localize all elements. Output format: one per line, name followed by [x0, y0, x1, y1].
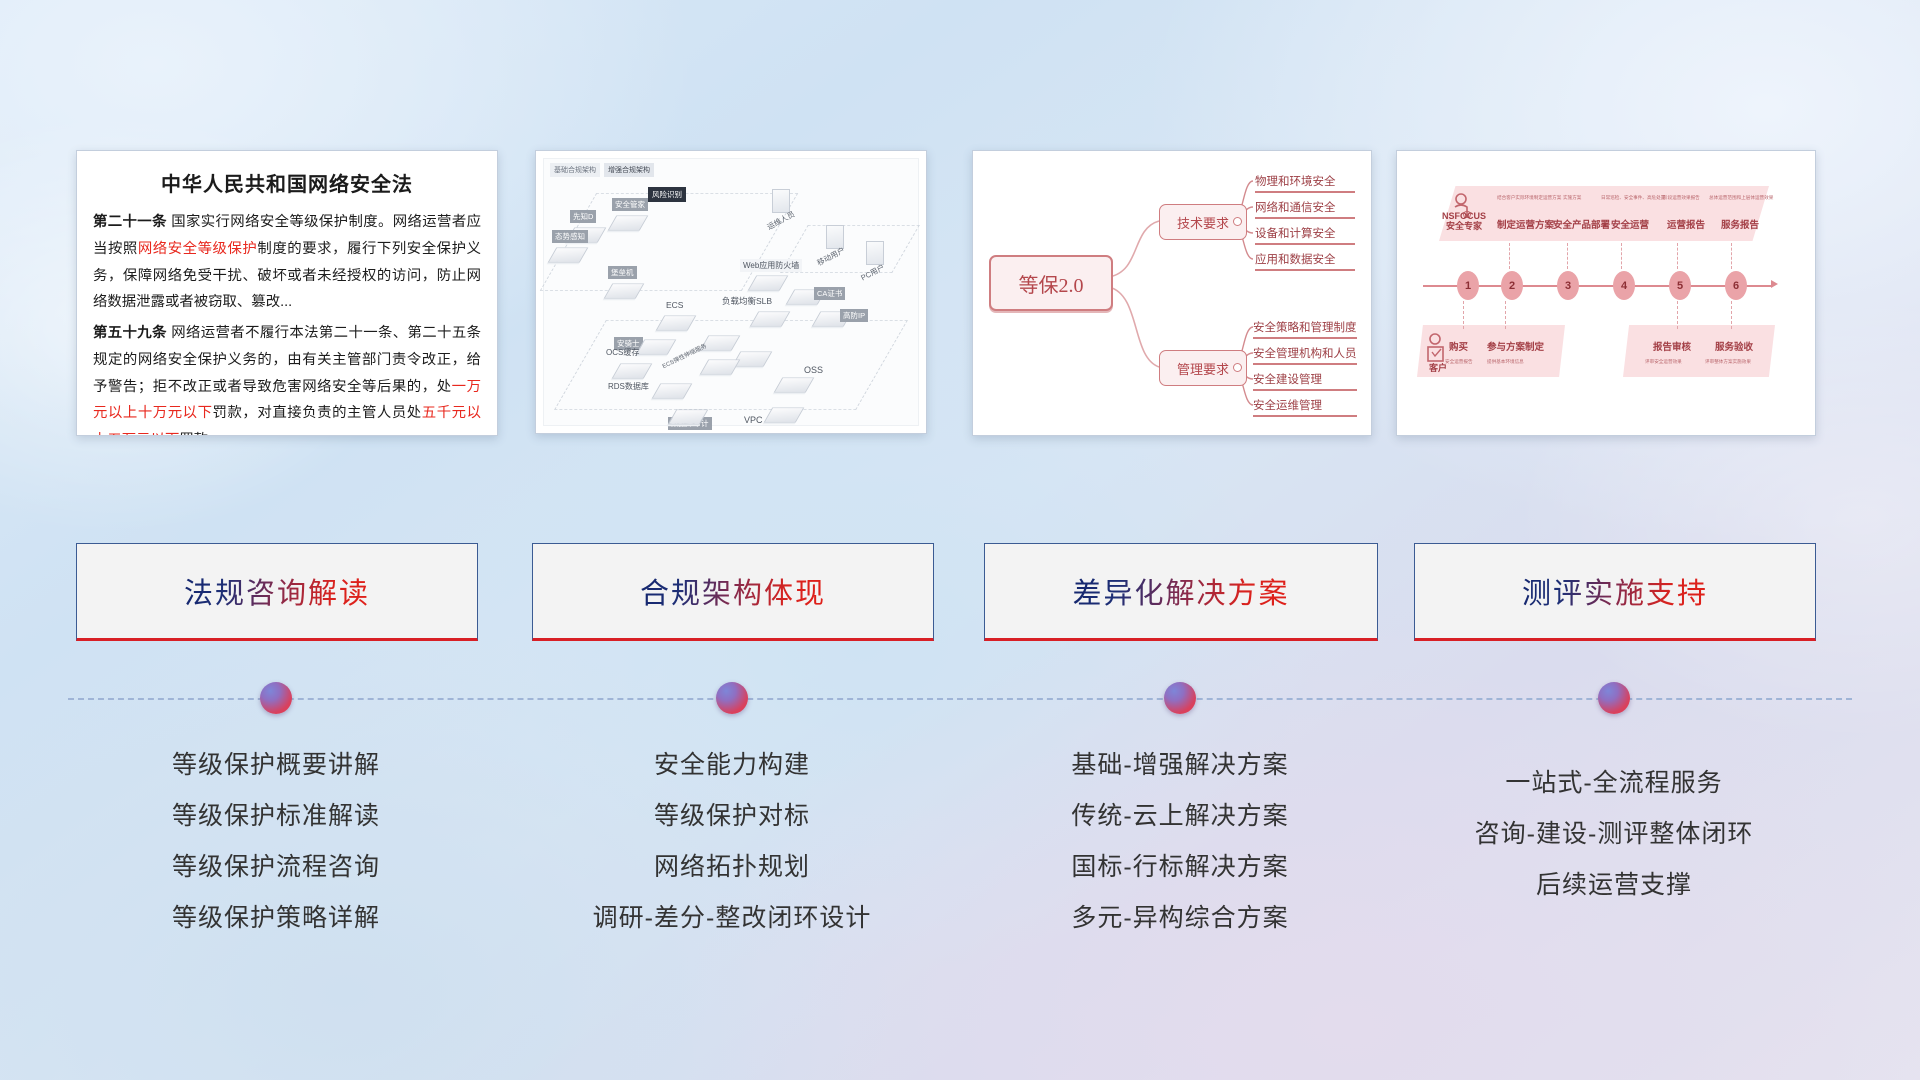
timeline-bottom-sub-6: 评审整体方案实施效果 — [1705, 359, 1751, 365]
feature-list-assessment-support: 一站式-全流程服务 咨询-建设-测评整体闭环 后续运营支撑 — [1414, 758, 1814, 911]
node-situation-awareness: 态势感知 — [552, 241, 584, 267]
list-item: 多元-异构综合方案 — [984, 893, 1376, 944]
category-button-regulation-consulting[interactable]: 法规咨询解读 — [76, 543, 478, 641]
list-item: 等级保护策略详解 — [76, 893, 476, 944]
leaf-text: 安全建设管理 — [1253, 374, 1322, 386]
category-buttons-row: 法规咨询解读 合规架构体现 差异化解决方案 测评实施支持 — [0, 543, 1920, 643]
architecture-tabs: 基础合规架构 增强合规架构 — [550, 163, 654, 177]
timeline-marker-1[interactable] — [260, 682, 292, 714]
mindmap-leaf-device-compute: 设备和计算安全 — [1255, 225, 1355, 241]
feature-list-differentiated-solution: 基础-增强解决方案 传统-云上解决方案 国标-行标解决方案 多元-异构综合方案 — [984, 740, 1376, 944]
tab-basic-architecture[interactable]: 基础合规架构 — [550, 163, 600, 177]
mindmap-leaf-ops-mgmt: 安全运维管理 — [1253, 397, 1357, 413]
timeline-top-step-5: 运营报告 — [1667, 217, 1705, 231]
node-rds-database: RDS数据库 — [656, 379, 688, 403]
node-ecs: ECS — [660, 311, 692, 335]
category-button-differentiated-solution[interactable]: 差异化解决方案 — [984, 543, 1378, 641]
category-button-label: 差异化解决方案 — [1072, 570, 1289, 612]
timeline-top-step-2: 制定运营方案 — [1497, 217, 1554, 231]
mindmap-canvas: 等保2.0 技术要求 物理和环境安全 网络和通信安全 设备和计算安全 应用和数据… — [981, 159, 1363, 427]
timeline-top-sub-6: 总体运营范围和上层体运营效果 — [1709, 195, 1773, 201]
tab-enhanced-architecture[interactable]: 增强合规架构 — [604, 163, 654, 177]
timeline-bottom-sub-5: 评审安全运营效果 — [1645, 359, 1682, 365]
timeline-dashed-line — [68, 698, 1852, 700]
mindmap-leaf-construction-mgmt: 安全建设管理 — [1253, 371, 1357, 387]
persona-expert-role: 安全专家 — [1437, 221, 1491, 231]
card-architecture-diagram[interactable]: 基础合规架构 增强合规架构 风险识别 安全管家 先知D 态势感知 — [535, 150, 927, 434]
leaf-text: 安全管理机构和人员 — [1253, 348, 1357, 360]
card-service-timeline[interactable]: NSFOCUS 安全专家 客户 结合客户实际环境制定运营方案 制定运营方案 实施… — [1396, 150, 1816, 436]
timeline-top-sub-3: 实施方案 — [1563, 195, 1581, 201]
timeline-bottom-sub-2: 提供基本环境信息 — [1487, 359, 1524, 365]
feature-list-regulation-consulting: 等级保护概要讲解 等级保护标准解读 等级保护流程咨询 等级保护策略详解 — [76, 740, 476, 944]
mindmap-collapse-icon-management[interactable] — [1233, 363, 1242, 372]
card-mindmap[interactable]: 等保2.0 技术要求 物理和环境安全 网络和通信安全 设备和计算安全 应用和数据… — [972, 150, 1372, 436]
list-item: 后续运营支撑 — [1414, 860, 1814, 911]
leaf-text: 网络和通信安全 — [1255, 202, 1336, 214]
node-ca-certificate: CA证书 — [790, 285, 822, 309]
timeline-top-step-4: 安全运营 — [1611, 217, 1649, 231]
mindmap-leaf-app-data: 应用和数据安全 — [1255, 251, 1355, 267]
architecture-canvas: 基础合规架构 增强合规架构 风险识别 安全管家 先知D 态势感知 — [543, 158, 919, 426]
list-item: 网络拓扑规划 — [532, 842, 932, 893]
timeline-step-dot-5[interactable]: 5 — [1669, 271, 1691, 300]
article-59-label: 第五十九条 — [93, 325, 167, 341]
list-item: 等级保护流程咨询 — [76, 842, 476, 893]
node-anqishi: 安骑士 — [640, 335, 672, 359]
mindmap-collapse-icon-technical[interactable] — [1233, 217, 1242, 226]
timeline-bottom-step-5: 报告审核 — [1653, 339, 1691, 353]
cards-row: 中华人民共和国网络安全法 第二十一条 国家实行网络安全等级保护制度。网络运营者应… — [0, 150, 1920, 440]
timeline-step-dot-6[interactable]: 6 — [1725, 271, 1747, 300]
mindmap-leaf-physical-env: 物理和环境安全 — [1255, 173, 1355, 189]
leaf-text: 安全运维管理 — [1253, 400, 1322, 412]
list-item: 一站式-全流程服务 — [1414, 758, 1814, 809]
list-item: 等级保护标准解读 — [76, 791, 476, 842]
timeline-marker-3[interactable] — [1164, 682, 1196, 714]
service-timeline-canvas: NSFOCUS 安全专家 客户 结合客户实际环境制定运营方案 制定运营方案 实施… — [1405, 159, 1807, 427]
node-vpc: VPC — [768, 403, 800, 427]
category-button-label: 合规架构体现 — [640, 570, 826, 612]
persona-expert-name: NSFOCUS — [1437, 211, 1491, 221]
mindmap-leaf-policy-system: 安全策略和管理制度 — [1253, 319, 1357, 335]
timeline-top-step-6: 服务报告 — [1721, 217, 1759, 231]
mindmap-leaf-network-comm: 网络和通信安全 — [1255, 199, 1355, 215]
list-item: 传统-云上解决方案 — [984, 791, 1376, 842]
timeline-bottom-step-6: 服务验收 — [1715, 339, 1753, 353]
connector-timeline — [0, 682, 1920, 718]
timeline-step-dot-3[interactable]: 3 — [1557, 271, 1579, 300]
article-21-highlight: 网络安全等级保护 — [138, 241, 258, 257]
list-item: 国标-行标解决方案 — [984, 842, 1376, 893]
list-item: 基础-增强解决方案 — [984, 740, 1376, 791]
node-oss: OSS — [778, 373, 810, 397]
node-security-butler: 安全管家 — [612, 209, 644, 235]
leaf-text: 安全策略和管理制度 — [1253, 322, 1357, 334]
node-ecs-autoscaling: ECS弹性伸缩服务 — [704, 331, 736, 355]
law-article-59: 第五十九条 网络运营者不履行本法第二十一条、第二十五条规定的网络安全保护义务的，… — [93, 320, 481, 436]
list-item: 安全能力构建 — [532, 740, 932, 791]
timeline-top-sub-5: 阶段运营效果报告 — [1663, 195, 1700, 201]
category-button-label: 法规咨询解读 — [184, 570, 370, 612]
article-59-text-2: 罚款，对直接负责的主管人员处 — [213, 405, 422, 421]
category-button-compliance-architecture[interactable]: 合规架构体现 — [532, 543, 934, 641]
node-anti-ddos-ip: 高防IP — [816, 307, 848, 331]
feature-lists-row: 等级保护概要讲解 等级保护标准解读 等级保护流程咨询 等级保护策略详解 安全能力… — [0, 740, 1920, 970]
article-21-label: 第二十一条 — [93, 214, 167, 230]
timeline-bottom-step-1: 购买 — [1449, 339, 1468, 353]
node-database-audit: 数据库审计 — [672, 405, 704, 429]
node-load-balancer-slb: 负载均衡SLB — [754, 307, 786, 331]
timeline-axis-arrow — [1771, 280, 1778, 288]
list-item: 咨询-建设-测评整体闭环 — [1414, 809, 1814, 860]
node-bastion-host: 堡垒机 — [608, 277, 640, 303]
node-ocs-cache: OCS缓存 — [606, 359, 648, 383]
timeline-step-dot-2[interactable]: 2 — [1501, 271, 1523, 300]
persona-expert: NSFOCUS 安全专家 — [1437, 211, 1491, 232]
timeline-top-sub-4: 日常巡检、安全事件、高危处置 — [1601, 195, 1665, 201]
timeline-step-dot-1[interactable]: 1 — [1457, 271, 1479, 300]
category-button-label: 测评实施支持 — [1522, 570, 1708, 612]
law-body: 第二十一条 国家实行网络安全等级保护制度。网络运营者应当按照网络安全等级保护制度… — [77, 209, 497, 436]
leaf-text: 设备和计算安全 — [1255, 228, 1336, 240]
leaf-text: 应用和数据安全 — [1255, 254, 1336, 266]
law-article-21: 第二十一条 国家实行网络安全等级保护制度。网络运营者应当按照网络安全等级保护制度… — [93, 209, 481, 316]
card-law-document[interactable]: 中华人民共和国网络安全法 第二十一条 国家实行网络安全等级保护制度。网络运营者应… — [76, 150, 498, 436]
node-ecs-group — [736, 347, 768, 371]
feature-list-compliance-architecture: 安全能力构建 等级保护对标 网络拓扑规划 调研-差分-整改闭环设计 — [532, 740, 932, 944]
timeline-marker-2[interactable] — [716, 682, 748, 714]
list-item: 调研-差分-整改闭环设计 — [532, 893, 932, 944]
timeline-top-step-3: 安全产品部署 — [1553, 217, 1610, 231]
article-59-text-3: 罚款。 — [179, 432, 222, 436]
mindmap-root[interactable]: 等保2.0 — [989, 255, 1113, 311]
list-item: 等级保护对标 — [532, 791, 932, 842]
leaf-text: 物理和环境安全 — [1255, 176, 1336, 188]
timeline-top-sub-2: 结合客户实际环境制定运营方案 — [1497, 195, 1561, 201]
timeline-marker-4[interactable] — [1598, 682, 1630, 714]
timeline-bottom-sub-1: 安全运营报告 — [1445, 359, 1473, 365]
timeline-step-dot-4[interactable]: 4 — [1613, 271, 1635, 300]
law-title: 中华人民共和国网络安全法 — [77, 168, 497, 197]
category-button-assessment-support[interactable]: 测评实施支持 — [1414, 543, 1816, 641]
node-web-application-firewall: Web应用防火墙 — [740, 259, 784, 295]
node-ecs-group-2 — [704, 355, 736, 379]
mindmap-leaf-org-personnel: 安全管理机构和人员 — [1253, 345, 1357, 361]
timeline-bottom-step-2: 参与方案制定 — [1487, 339, 1544, 353]
list-item: 等级保护概要讲解 — [76, 740, 476, 791]
